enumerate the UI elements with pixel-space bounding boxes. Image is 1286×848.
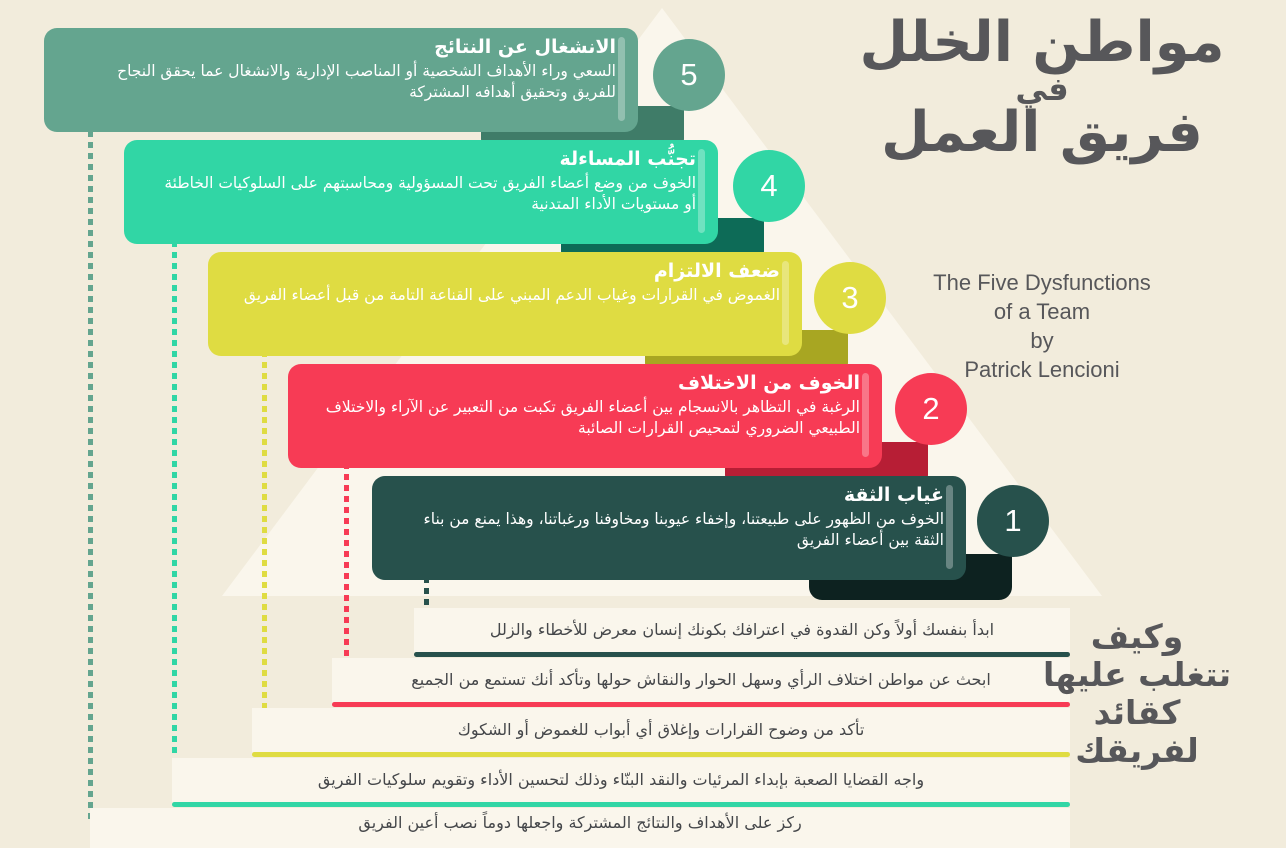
tip-row-2[interactable]: ابحث عن مواطن اختلاف الرأي وسهل الحوار و…: [332, 658, 1070, 702]
level-number-circle-1[interactable]: 1: [977, 485, 1049, 557]
book-author: Patrick Lencioni: [832, 355, 1252, 384]
level-band-5[interactable]: الانشغال عن النتائج السعي وراء الأهداف ا…: [44, 28, 638, 132]
level-title-1: غياب الثقة: [400, 483, 944, 508]
dotted-connector-level3: [262, 340, 267, 730]
level-row-5[interactable]: الانشغال عن النتائج السعي وراء الأهداف ا…: [44, 28, 638, 132]
infographic-canvas: الانشغال عن النتائج السعي وراء الأهداف ا…: [0, 0, 1286, 820]
level-band-1[interactable]: غياب الثقة الخوف من الظهور على طبيعتنا، …: [372, 476, 966, 580]
level-title-2: الخوف من الاختلاف: [316, 371, 860, 396]
level-band-3[interactable]: ضعف الالتزام الغموض في القرارات وغياب ال…: [208, 252, 802, 356]
level-description-1: الخوف من الظهور على طبيعتنا، وإخفاء عيوب…: [400, 508, 944, 551]
level-stripe-2: [862, 373, 869, 457]
level-number-4: 4: [760, 168, 777, 204]
tip-text-5: ركز على الأهداف والنتائج المشتركة واجعله…: [90, 808, 1070, 848]
tip-row-1[interactable]: ابدأ بنفسك أولاً وكن القدوة في اعترافك ب…: [414, 608, 1070, 652]
level-number-circle-5[interactable]: 5: [653, 39, 725, 111]
howto-line3: كقائد: [1022, 694, 1252, 732]
level-number-2: 2: [922, 391, 939, 427]
level-number-1: 1: [1004, 503, 1021, 539]
tip-underline-4: [172, 802, 1070, 807]
page-title-line1: مواطن الخلل: [832, 14, 1252, 71]
level-band-4[interactable]: تجنُّب المساءلة الخوف من وضع أعضاء الفري…: [124, 140, 718, 244]
howto-line1: وكيف: [1022, 618, 1252, 656]
level-number-circle-4[interactable]: 4: [733, 150, 805, 222]
level-stripe-1: [946, 485, 953, 569]
level-title-5: الانشغال عن النتائج: [72, 35, 616, 60]
tip-text-4: واجه القضايا الصعبة بإبداء المرئيات والن…: [172, 758, 1070, 802]
howto-line4: لفريقك: [1022, 732, 1252, 770]
dotted-connector-level4: [172, 230, 177, 782]
book-subtitle: The Five Dysfunctions of a Team by Patri…: [832, 268, 1252, 384]
dotted-connector-level5: [88, 120, 93, 820]
tip-text-1: ابدأ بنفسك أولاً وكن القدوة في اعترافك ب…: [414, 608, 1070, 652]
tip-row-5[interactable]: ركز على الأهداف والنتائج المشتركة واجعله…: [90, 808, 1070, 848]
level-stripe-5: [618, 37, 625, 121]
page-title: مواطن الخلل في فريق العمل: [832, 14, 1252, 161]
book-subtitle-line3: by: [832, 326, 1252, 355]
level-description-4: الخوف من وضع أعضاء الفريق تحت المسؤولية …: [152, 172, 696, 215]
dotted-connector-level2: [344, 452, 349, 690]
level-stripe-4: [698, 149, 705, 233]
level-row-4[interactable]: تجنُّب المساءلة الخوف من وضع أعضاء الفري…: [124, 140, 718, 244]
tip-text-3: تأكد من وضوح القرارات وإغلاق أي أبواب لل…: [252, 708, 1070, 752]
tip-text-2: ابحث عن مواطن اختلاف الرأي وسهل الحوار و…: [332, 658, 1070, 702]
tip-underline-1: [414, 652, 1070, 657]
level-band-2[interactable]: الخوف من الاختلاف الرغبة في التظاهر بالا…: [288, 364, 882, 468]
level-description-2: الرغبة في التظاهر بالانسجام بين أعضاء ال…: [316, 396, 860, 439]
level-number-5: 5: [680, 57, 697, 93]
howto-line2: تتغلب عليها: [1022, 656, 1252, 694]
level-row-2[interactable]: الخوف من الاختلاف الرغبة في التظاهر بالا…: [288, 364, 882, 468]
tip-row-3[interactable]: تأكد من وضوح القرارات وإغلاق أي أبواب لل…: [252, 708, 1070, 752]
book-subtitle-line1: The Five Dysfunctions: [832, 268, 1252, 297]
book-subtitle-line2: of a Team: [832, 297, 1252, 326]
howto-heading: وكيف تتغلب عليها كقائد لفريقك: [1022, 618, 1252, 770]
level-stripe-3: [782, 261, 789, 345]
level-description-3: الغموض في القرارات وغياب الدعم المبني عل…: [236, 284, 780, 306]
level-title-3: ضعف الالتزام: [236, 259, 780, 284]
tip-underline-2: [332, 702, 1070, 707]
level-title-4: تجنُّب المساءلة: [152, 147, 696, 172]
level-row-1[interactable]: غياب الثقة الخوف من الظهور على طبيعتنا، …: [372, 476, 966, 580]
level-description-5: السعي وراء الأهداف الشخصية أو المناصب ال…: [72, 60, 616, 103]
tip-underline-3: [252, 752, 1070, 757]
page-title-line3: فريق العمل: [832, 104, 1252, 161]
tip-row-4[interactable]: واجه القضايا الصعبة بإبداء المرئيات والن…: [172, 758, 1070, 802]
level-row-3[interactable]: ضعف الالتزام الغموض في القرارات وغياب ال…: [208, 252, 802, 356]
